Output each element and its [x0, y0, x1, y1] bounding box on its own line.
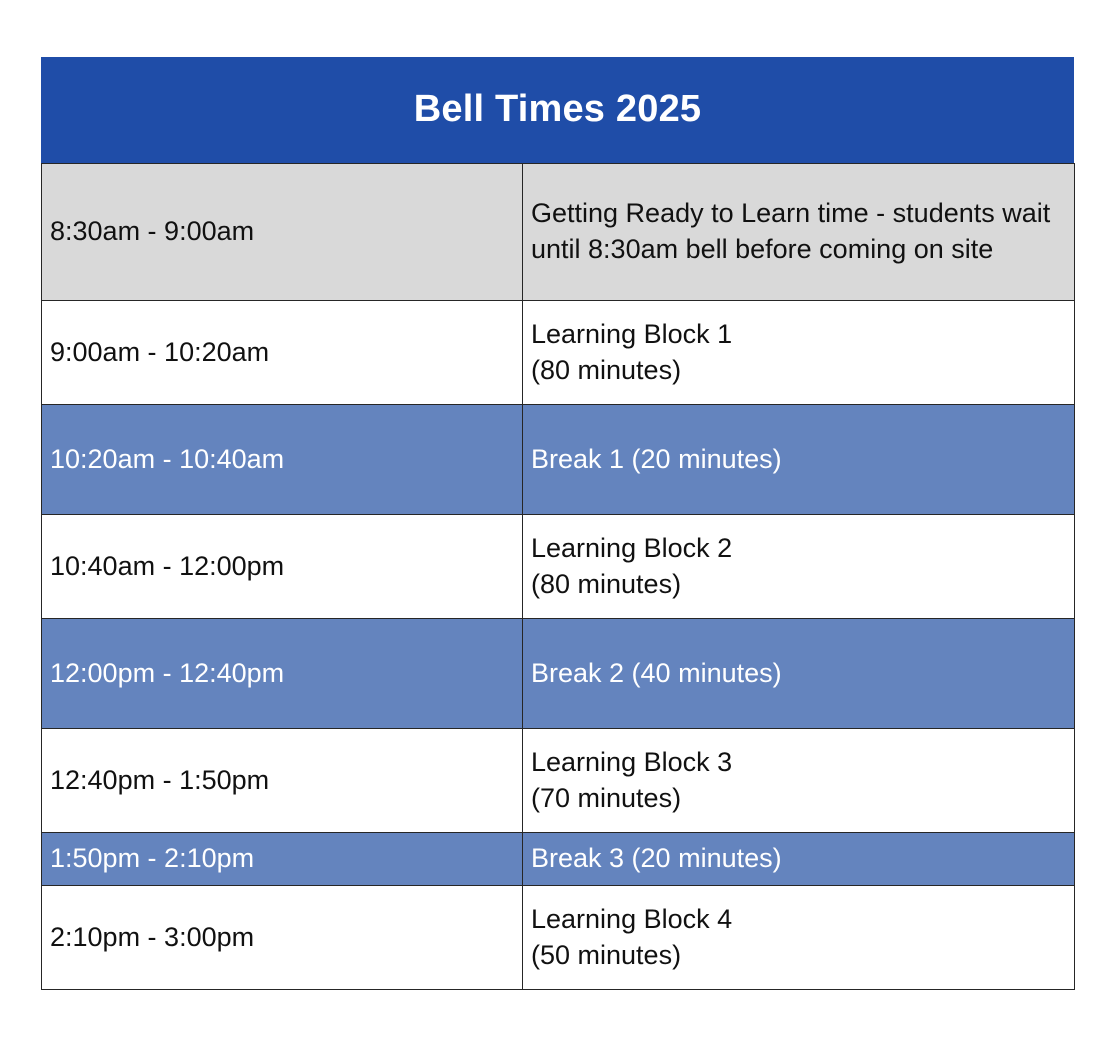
- description-line: (70 minutes): [531, 781, 1066, 817]
- description-line: (80 minutes): [531, 353, 1066, 389]
- time-range-cell: 12:40pm - 1:50pm: [42, 729, 523, 833]
- description-cell: Learning Block 2(80 minutes): [523, 515, 1075, 619]
- time-range-cell: 10:40am - 12:00pm: [42, 515, 523, 619]
- time-range-cell: 10:20am - 10:40am: [42, 405, 523, 515]
- description-line: Learning Block 3: [531, 745, 1066, 781]
- table-row: 8:30am - 9:00amGetting Ready to Learn ti…: [42, 164, 1075, 301]
- description-line: Learning Block 1: [531, 317, 1066, 353]
- description-line: Learning Block 2: [531, 531, 1066, 567]
- time-range-cell: 9:00am - 10:20am: [42, 301, 523, 405]
- time-range-cell: 8:30am - 9:00am: [42, 164, 523, 301]
- schedule-table: 8:30am - 9:00amGetting Ready to Learn ti…: [41, 163, 1075, 990]
- time-range-cell: 12:00pm - 12:40pm: [42, 619, 523, 729]
- bell-times-table: Bell Times 2025 8:30am - 9:00amGetting R…: [41, 57, 1074, 990]
- description-cell: Learning Block 1(80 minutes): [523, 301, 1075, 405]
- table-row: 2:10pm - 3:00pmLearning Block 4(50 minut…: [42, 886, 1075, 990]
- description-cell: Break 2 (40 minutes): [523, 619, 1075, 729]
- table-row: 10:20am - 10:40amBreak 1 (20 minutes): [42, 405, 1075, 515]
- description-line: Getting Ready to Learn time - students w…: [531, 196, 1066, 267]
- table-row: 10:40am - 12:00pmLearning Block 2(80 min…: [42, 515, 1075, 619]
- time-range-cell: 1:50pm - 2:10pm: [42, 833, 523, 886]
- description-line: Break 3 (20 minutes): [531, 841, 1066, 877]
- table-header-banner: Bell Times 2025: [41, 57, 1074, 163]
- page-title: Bell Times 2025: [414, 89, 701, 131]
- description-line: (80 minutes): [531, 567, 1066, 603]
- time-range-cell: 2:10pm - 3:00pm: [42, 886, 523, 990]
- description-cell: Getting Ready to Learn time - students w…: [523, 164, 1075, 301]
- description-cell: Break 3 (20 minutes): [523, 833, 1075, 886]
- table-row: 1:50pm - 2:10pmBreak 3 (20 minutes): [42, 833, 1075, 886]
- table-row: 9:00am - 10:20amLearning Block 1(80 minu…: [42, 301, 1075, 405]
- table-row: 12:40pm - 1:50pmLearning Block 3(70 minu…: [42, 729, 1075, 833]
- description-line: Learning Block 4: [531, 902, 1066, 938]
- description-cell: Learning Block 3(70 minutes): [523, 729, 1075, 833]
- description-cell: Learning Block 4(50 minutes): [523, 886, 1075, 990]
- schedule-table-body: 8:30am - 9:00amGetting Ready to Learn ti…: [42, 164, 1075, 990]
- description-line: (50 minutes): [531, 938, 1066, 974]
- description-line: Break 1 (20 minutes): [531, 442, 1066, 478]
- description-cell: Break 1 (20 minutes): [523, 405, 1075, 515]
- description-line: Break 2 (40 minutes): [531, 656, 1066, 692]
- table-row: 12:00pm - 12:40pmBreak 2 (40 minutes): [42, 619, 1075, 729]
